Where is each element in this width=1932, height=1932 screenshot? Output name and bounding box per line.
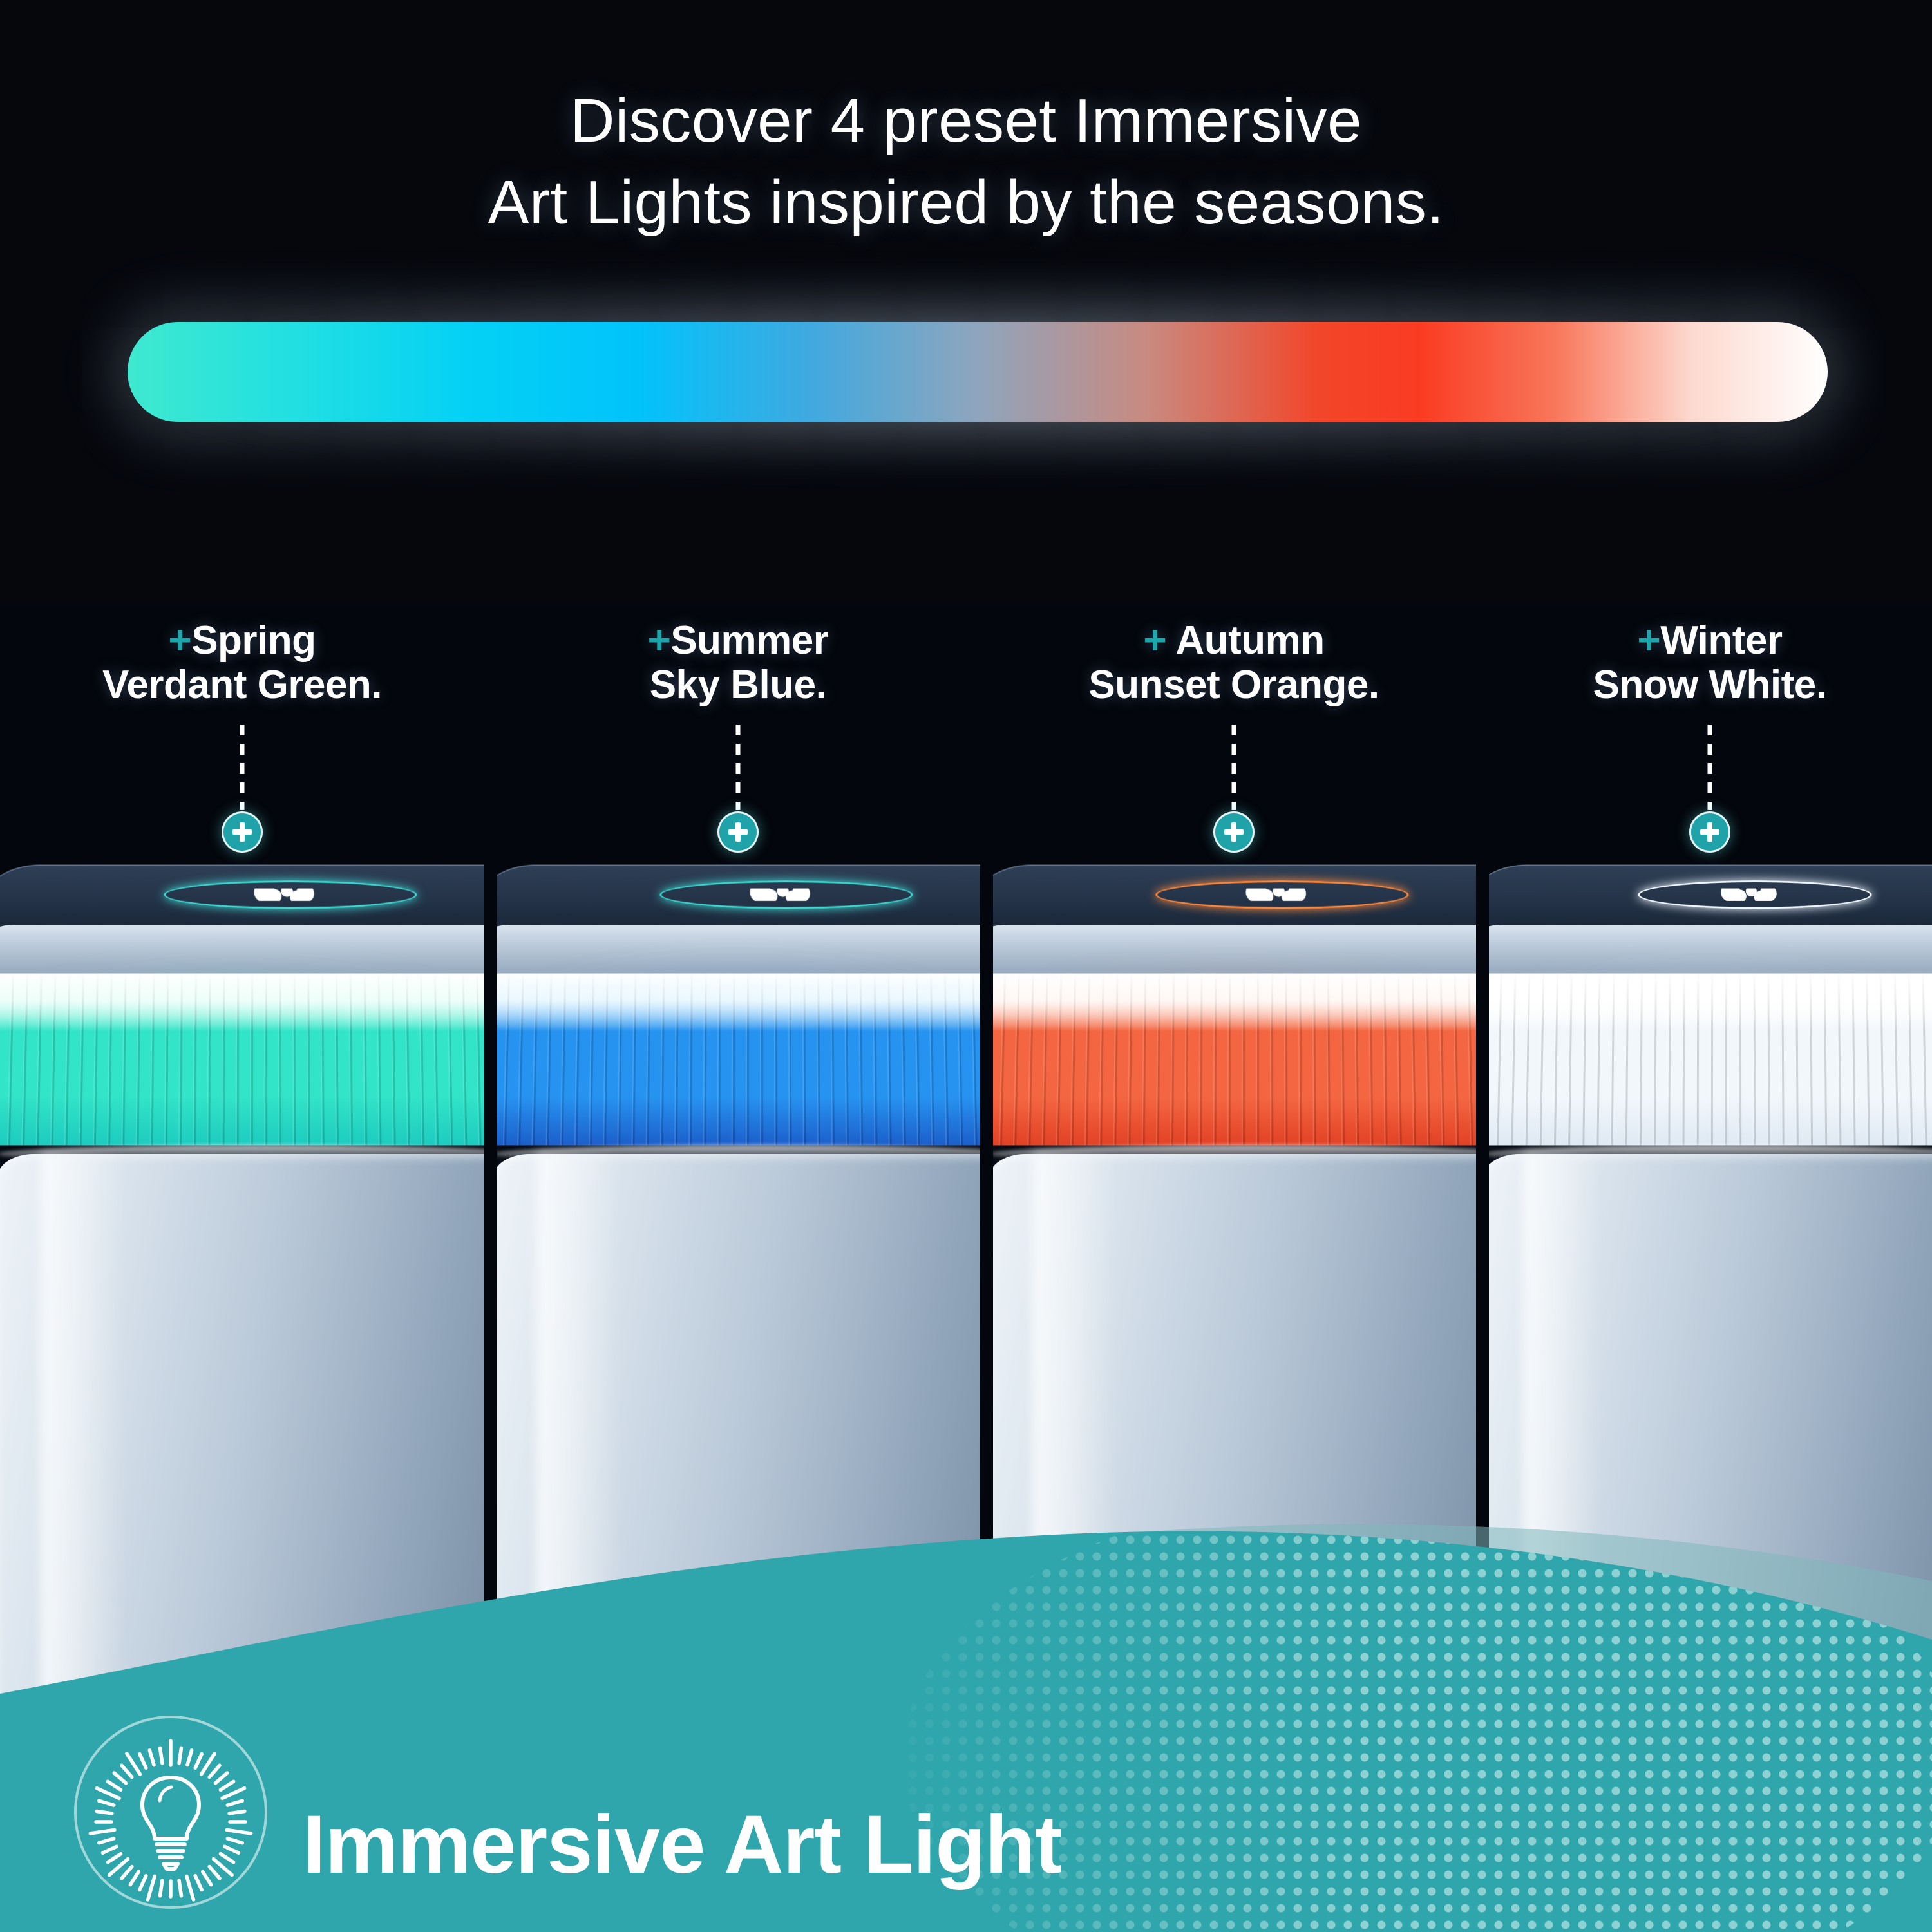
color-name: Sky Blue. (496, 663, 980, 707)
banner-title: Immersive Art Light (303, 1797, 1061, 1892)
season-name: Winter (1660, 618, 1782, 663)
headline-line-1: Discover 4 preset Immersive (570, 86, 1362, 155)
product-collar (992, 925, 1476, 980)
lid-badge-dots (747, 889, 817, 901)
plus-marker-icon[interactable] (222, 811, 263, 853)
color-name: Snow White. (1488, 663, 1932, 707)
light-band-spring (0, 973, 484, 1145)
dashed-leader-line (1708, 724, 1712, 810)
light-band-highlight (1488, 973, 1932, 1031)
lid-badge-dots (1718, 889, 1783, 901)
dashed-leader-line (240, 724, 245, 810)
dashed-leader-line (736, 724, 741, 810)
lid-badge-ring (659, 880, 914, 909)
plus-glyph: + (168, 618, 191, 663)
headline-line-2: Art Lights inspired by the seasons. (0, 162, 1932, 244)
product-lid (992, 864, 1476, 934)
lid-badge-ring (1637, 880, 1873, 909)
preset-label-winter: +Winter Snow White. (1488, 618, 1932, 708)
lid-badge-dots (1243, 889, 1313, 901)
product-lid (1488, 864, 1932, 934)
plus-glyph: + (648, 618, 671, 663)
color-name: Sunset Orange. (992, 663, 1476, 707)
season-name: Summer (670, 618, 828, 663)
product-collar (0, 925, 484, 980)
light-band-highlight (992, 973, 1476, 1031)
season-name: Spring (191, 618, 316, 663)
lid-badge-ring (164, 880, 419, 909)
plus-marker-icon[interactable] (1689, 811, 1730, 853)
color-name: Verdant Green. (0, 663, 484, 707)
preset-label-spring: +Spring Verdant Green. (0, 618, 484, 708)
light-band-summer (496, 973, 980, 1145)
light-band-winter (1488, 973, 1932, 1145)
product-collar (496, 925, 980, 980)
plus-marker-icon[interactable] (717, 811, 759, 853)
season-name: Autumn (1175, 618, 1324, 663)
light-band-autumn (992, 973, 1476, 1145)
preset-label-autumn: + Autumn Sunset Orange. (992, 618, 1476, 708)
lid-badge-dots (251, 889, 321, 901)
light-band-highlight (496, 973, 980, 1031)
icon-ring (74, 1716, 267, 1909)
lid-badge-ring (1155, 880, 1410, 909)
dashed-leader-line (1232, 724, 1236, 810)
preset-label-summer: +Summer Sky Blue. (496, 618, 980, 708)
page-title: Discover 4 preset Immersive Art Lights i… (0, 80, 1932, 243)
product-collar (1488, 925, 1932, 980)
product-lid (0, 864, 484, 934)
plus-glyph: + (1637, 618, 1660, 663)
spectrum-gradient (128, 322, 1828, 422)
light-band-highlight (0, 973, 484, 1031)
marketing-banner: Discover 4 preset Immersive Art Lights i… (0, 0, 1932, 1932)
product-lid (496, 864, 980, 934)
lightbulb-rays-icon (74, 1716, 267, 1909)
color-spectrum-bar (128, 322, 1828, 422)
plus-marker-icon[interactable] (1213, 811, 1255, 853)
plus-glyph: + (1143, 618, 1175, 663)
